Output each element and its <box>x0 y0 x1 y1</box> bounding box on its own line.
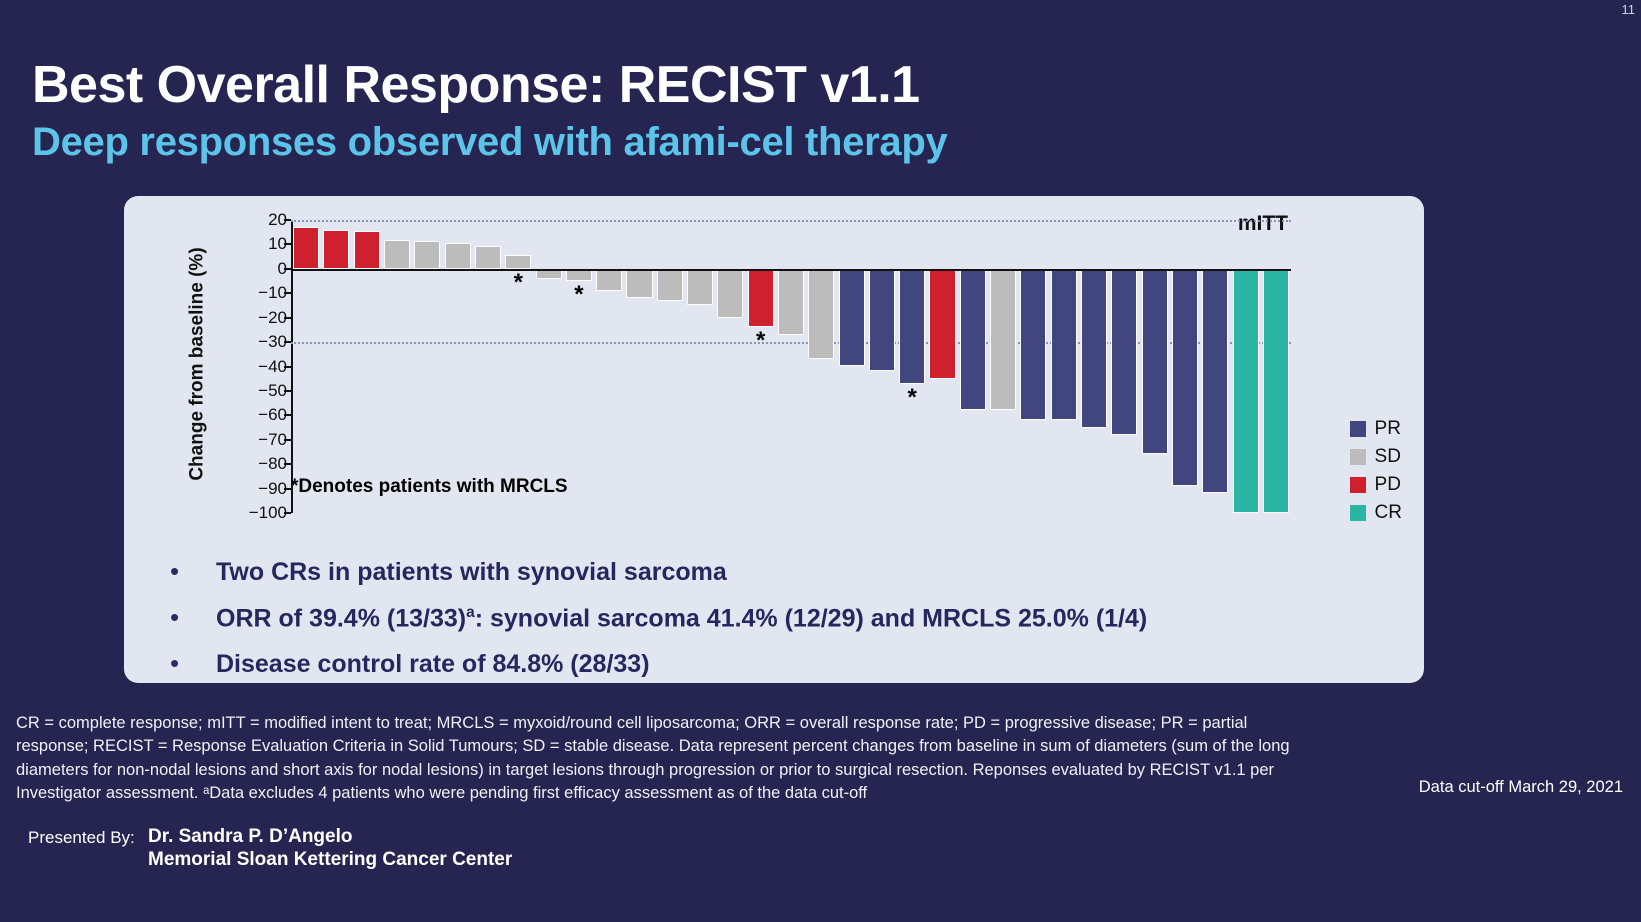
bar <box>990 269 1016 411</box>
bullet-marker: • <box>170 558 216 584</box>
bullet-item: •Disease control rate of 84.8% (28/33) <box>170 650 1370 679</box>
bar <box>929 269 955 379</box>
bar <box>717 269 743 318</box>
bar <box>323 230 349 269</box>
bar <box>1202 269 1228 494</box>
legend-item: CR <box>1350 502 1402 524</box>
presenter-organization: Memorial Sloan Kettering Cancer Center <box>148 849 512 871</box>
y-tick-mark <box>284 317 291 319</box>
bar <box>354 231 380 269</box>
y-tick-mark <box>284 243 291 245</box>
page-number: 11 <box>1622 2 1636 17</box>
data-cutoff: Data cut-off March 29, 2021 <box>1419 778 1623 797</box>
bar <box>1172 269 1198 486</box>
bar <box>687 269 713 306</box>
y-tick-mark <box>284 268 291 270</box>
y-tick-label: −70 <box>227 430 287 450</box>
bar <box>778 269 804 335</box>
y-tick-label: −100 <box>227 503 287 523</box>
waterfall-chart: Change from baseline (%) mITT 20100−10−2… <box>124 196 1424 536</box>
y-axis-label-text: Change from baseline (%) <box>187 247 209 480</box>
legend-swatch <box>1350 421 1366 437</box>
legend-item: SD <box>1350 446 1402 468</box>
bullet-item: •ORR of 39.4% (13/33)a: synovial sarcoma… <box>170 604 1370 633</box>
bar <box>1263 269 1289 513</box>
y-tick-label: −80 <box>227 454 287 474</box>
bar <box>657 269 683 301</box>
y-tick-label: −10 <box>227 283 287 303</box>
bar <box>869 269 895 372</box>
y-tick-label: 20 <box>227 210 287 230</box>
y-axis-label: Change from baseline (%) <box>186 224 210 504</box>
presented-by-label: Presented By: <box>28 828 135 848</box>
bullet-item: •Two CRs in patients with synovial sarco… <box>170 558 1370 587</box>
legend-item: PR <box>1350 418 1402 440</box>
legend-label: SD <box>1375 446 1401 468</box>
bullet-list: •Two CRs in patients with synovial sarco… <box>170 558 1370 696</box>
bar <box>1081 269 1107 428</box>
presenter-name: Dr. Sandra P. D’Angelo <box>148 826 352 848</box>
bar <box>899 269 925 384</box>
bullet-text: Two CRs in patients with synovial sarcom… <box>216 558 727 587</box>
legend-swatch <box>1350 449 1366 465</box>
bullet-text: Disease control rate of 84.8% (28/33) <box>216 650 650 679</box>
y-tick-label: −50 <box>227 381 287 401</box>
y-tick-mark <box>284 439 291 441</box>
slide: 11 Best Overall Response: RECIST v1.1 De… <box>0 0 1641 922</box>
y-tick-mark <box>284 488 291 490</box>
bar <box>960 269 986 411</box>
y-tick-label: −20 <box>227 308 287 328</box>
y-tick-mark <box>284 463 291 465</box>
legend-swatch <box>1350 477 1366 493</box>
bar <box>839 269 865 367</box>
footnote-superscript: a <box>466 604 475 621</box>
y-tick-mark <box>284 366 291 368</box>
footnote: CR = complete response; mITT = modified … <box>16 712 1306 806</box>
bar <box>1111 269 1137 435</box>
y-tick-mark <box>284 219 291 221</box>
mrcls-asterisk: * <box>574 283 583 307</box>
bar-series <box>291 220 1291 513</box>
bar <box>505 255 531 268</box>
bar <box>596 269 622 291</box>
y-tick-label: −30 <box>227 332 287 352</box>
content-card: Change from baseline (%) mITT 20100−10−2… <box>124 196 1424 683</box>
bar <box>1233 269 1259 513</box>
chart-legend: PRSDPDCR <box>1350 418 1402 530</box>
bar <box>808 269 834 359</box>
bullet-marker: • <box>170 604 216 630</box>
legend-item: PD <box>1350 474 1402 496</box>
page-subtitle: Deep responses observed with afami-cel t… <box>32 120 947 165</box>
bar <box>1020 269 1046 420</box>
bar <box>1051 269 1077 420</box>
bullet-marker: • <box>170 650 216 676</box>
legend-swatch <box>1350 505 1366 521</box>
y-tick-mark <box>284 512 291 514</box>
y-tick-mark <box>284 390 291 392</box>
zero-line <box>291 269 1291 271</box>
y-tick-label: −90 <box>227 479 287 499</box>
bar <box>414 241 440 269</box>
y-tick-mark <box>284 414 291 416</box>
plot-area: 20100−10−20−30−40−50−60−70−80−90−100 ***… <box>291 220 1291 513</box>
y-tick-label: 10 <box>227 234 287 254</box>
y-tick-mark <box>284 341 291 343</box>
mrcls-asterisk: * <box>908 386 917 410</box>
bar <box>748 269 774 328</box>
legend-label: PR <box>1375 418 1401 440</box>
bullet-text: ORR of 39.4% (13/33)a: synovial sarcoma … <box>216 604 1147 633</box>
page-title: Best Overall Response: RECIST v1.1 <box>32 55 920 115</box>
y-tick-label: −40 <box>227 357 287 377</box>
bar <box>475 246 501 269</box>
legend-label: CR <box>1375 502 1402 524</box>
bar <box>384 240 410 269</box>
mrcls-asterisk: * <box>514 271 523 295</box>
bar <box>445 243 471 269</box>
bar <box>293 227 319 269</box>
y-tick-label: 0 <box>227 259 287 279</box>
bar <box>1142 269 1168 455</box>
legend-label: PD <box>1375 474 1401 496</box>
bar <box>626 269 652 298</box>
y-tick-label: −60 <box>227 405 287 425</box>
mrcls-asterisk: * <box>756 329 765 353</box>
mrcls-annotation: *Denotes patients with MRCLS <box>291 476 568 498</box>
y-tick-mark <box>284 292 291 294</box>
